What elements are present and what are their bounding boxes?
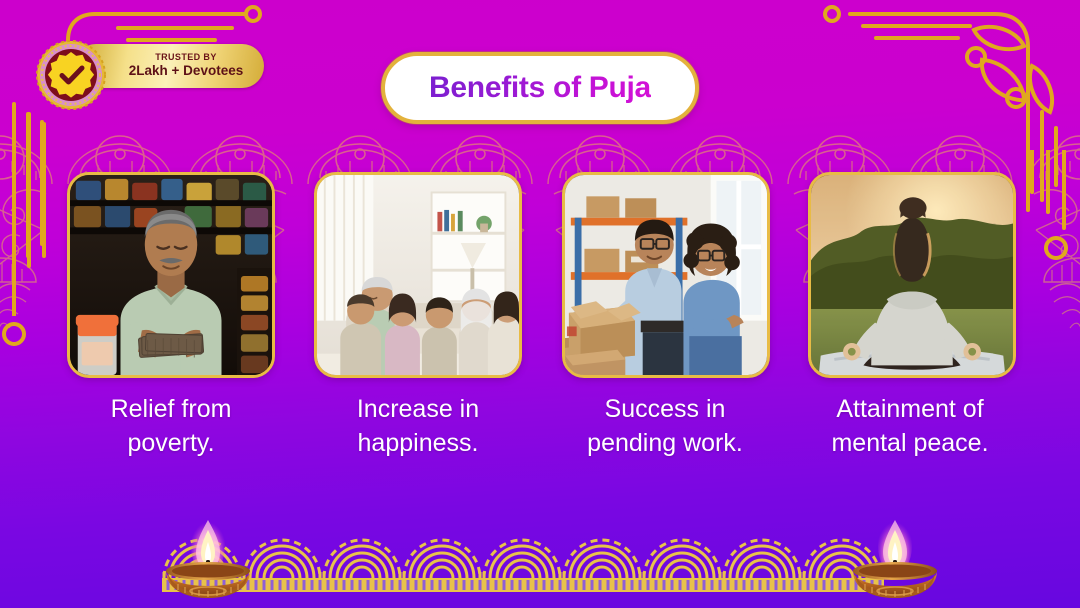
shopkeeper-counting-money-image	[70, 175, 272, 375]
benefit-caption-4: Attainment of mental peace.	[785, 392, 1035, 460]
trust-badge-label: TRUSTED BY	[155, 53, 217, 63]
benefit-card-image-4[interactable]	[808, 172, 1016, 378]
slide-canvas: TRUSTED BY 2Lakh + Devotees Benefits of …	[0, 0, 1080, 608]
trust-badge-value: 2Lakh + Devotees	[129, 63, 243, 80]
benefit-card-image-2[interactable]	[314, 172, 522, 378]
woman-meditating-sunset-image	[811, 175, 1013, 375]
trust-badge[interactable]: TRUSTED BY 2Lakh + Devotees	[34, 40, 264, 92]
page-title-pill: Benefits of Puja	[381, 52, 699, 124]
benefits-image-row	[0, 172, 1080, 378]
benefit-card-image-3[interactable]	[562, 172, 770, 378]
benefit-caption-3-line1: Success in	[540, 392, 790, 426]
diya-lamp-right-icon	[845, 518, 945, 600]
benefit-caption-2: Increase in happiness.	[293, 392, 543, 460]
couple-packing-boxes-image	[565, 175, 767, 375]
benefit-caption-1-line1: Relief from	[46, 392, 296, 426]
benefit-caption-3: Success in pending work.	[540, 392, 790, 460]
verified-seal-icon	[34, 38, 108, 112]
diya-lamp-left-icon	[158, 518, 258, 600]
page-title: Benefits of Puja	[429, 71, 651, 105]
benefit-caption-1-line2: poverty.	[46, 426, 296, 460]
benefit-caption-4-line2: mental peace.	[785, 426, 1035, 460]
benefit-caption-4-line1: Attainment of	[785, 392, 1035, 426]
family-together-image	[317, 175, 519, 375]
benefit-card-image-1[interactable]	[67, 172, 275, 378]
benefit-caption-2-line2: happiness.	[293, 426, 543, 460]
page-title-container: Benefits of Puja	[381, 52, 699, 124]
benefit-caption-1: Relief from poverty.	[46, 392, 296, 460]
benefit-caption-2-line1: Increase in	[293, 392, 543, 426]
benefit-caption-3-line2: pending work.	[540, 426, 790, 460]
